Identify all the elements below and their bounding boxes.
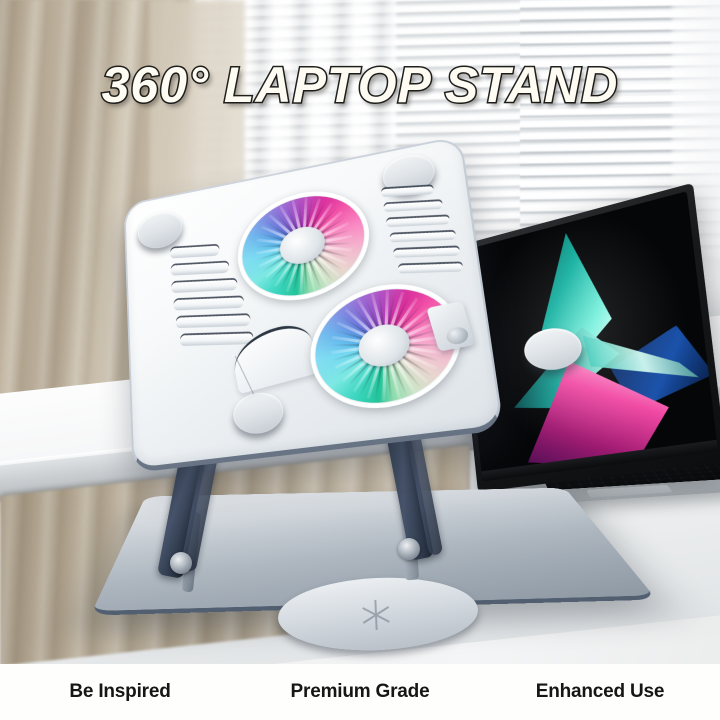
cooling-tray-panel <box>124 135 505 473</box>
hinge-right <box>398 538 420 560</box>
vent-slots-left <box>161 244 250 354</box>
caption-be-inspired: Be Inspired <box>0 681 240 703</box>
product-photo-scene: 360° LAPTOP STAND <box>0 0 720 664</box>
poster-title: 360° LAPTOP STAND <box>0 56 720 114</box>
caption-enhanced-use: Enhanced Use <box>480 681 720 703</box>
laptop-stand <box>110 160 590 590</box>
caption-bar: Be Inspired Premium Grade Enhanced Use <box>0 664 720 720</box>
product-poster: 360° LAPTOP STAND Be Inspired Premium Gr… <box>0 0 720 720</box>
asterisk-mark-icon <box>357 599 392 630</box>
corner-pad-bottom-right <box>521 325 585 374</box>
hinge-left <box>170 552 192 574</box>
caption-premium-grade: Premium Grade <box>240 681 480 703</box>
vent-slots-right <box>379 184 469 282</box>
